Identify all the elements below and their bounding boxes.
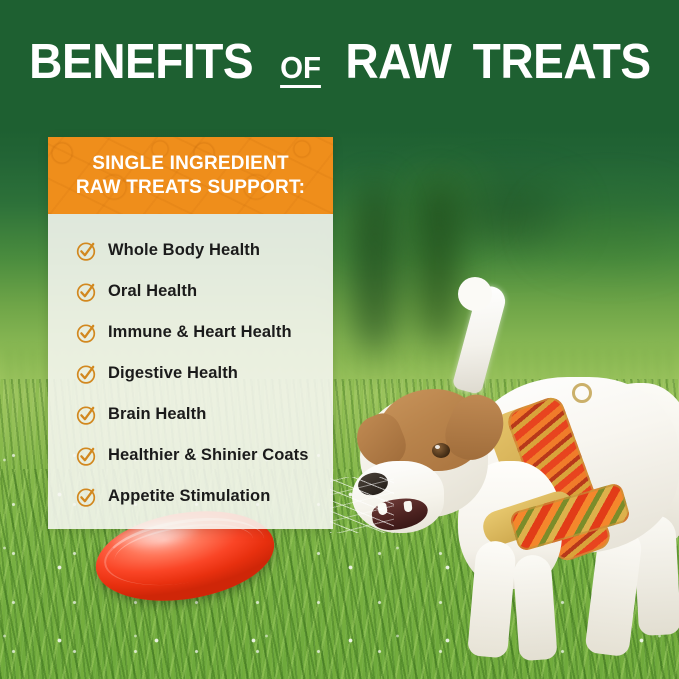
circle-check-icon — [75, 363, 97, 385]
circle-check-icon — [75, 445, 97, 467]
dog-front-right-leg — [512, 554, 557, 661]
dog-whiskers — [330, 477, 394, 533]
dog-harness-ring — [572, 383, 592, 403]
benefit-list-item: Whole Body Health — [48, 230, 333, 271]
title-of-text: OF — [280, 50, 321, 85]
benefit-list-item: Healthier & Shinier Coats — [48, 435, 333, 476]
card-header-line-2: RAW TREATS SUPPORT: — [76, 176, 305, 199]
benefit-list-item: Digestive Health — [48, 353, 333, 394]
dog-tooth — [403, 501, 412, 513]
bokeh-shape — [545, 205, 675, 251]
title-of-underline — [280, 85, 321, 88]
benefit-list-item: Immune & Heart Health — [48, 312, 333, 353]
benefit-list-item: Oral Health — [48, 271, 333, 312]
benefit-label: Oral Health — [108, 282, 197, 301]
title-word-benefits: BENEFITS — [29, 38, 253, 87]
title-word-treats: TREATS — [473, 38, 651, 87]
benefits-list: Whole Body HealthOral HealthImmune & Hea… — [48, 214, 333, 517]
card-header: SINGLE INGREDIENT RAW TREATS SUPPORT: — [48, 137, 333, 214]
benefit-label: Appetite Stimulation — [108, 487, 270, 506]
benefit-label: Immune & Heart Health — [108, 323, 292, 342]
circle-check-icon — [75, 281, 97, 303]
circle-check-icon — [75, 486, 97, 508]
dog-photo-subject — [330, 265, 679, 679]
poster-canvas: BENEFITSOFRAWTREATS SINGLE INGREDIENT RA… — [0, 0, 679, 679]
title-word-raw: RAW — [345, 38, 451, 87]
benefits-card: SINGLE INGREDIENT RAW TREATS SUPPORT: Wh… — [48, 137, 333, 529]
benefit-label: Brain Health — [108, 405, 206, 424]
benefit-list-item: Appetite Stimulation — [48, 476, 333, 517]
benefit-label: Digestive Health — [108, 364, 238, 383]
dog-tail-tip — [458, 277, 492, 311]
card-header-line-1: SINGLE INGREDIENT — [76, 152, 305, 175]
dog-front-left-leg — [467, 539, 517, 658]
title-word-of: OF — [280, 52, 321, 91]
circle-check-icon — [75, 404, 97, 426]
benefit-list-item: Brain Health — [48, 394, 333, 435]
circle-check-icon — [75, 322, 97, 344]
benefit-label: Whole Body Health — [108, 241, 260, 260]
dog-eye-highlight — [435, 445, 440, 449]
circle-check-icon — [75, 240, 97, 262]
card-header-text: SINGLE INGREDIENT RAW TREATS SUPPORT: — [76, 152, 305, 198]
poster-title: BENEFITSOFRAWTREATS — [0, 38, 679, 91]
benefit-label: Healthier & Shinier Coats — [108, 446, 309, 465]
